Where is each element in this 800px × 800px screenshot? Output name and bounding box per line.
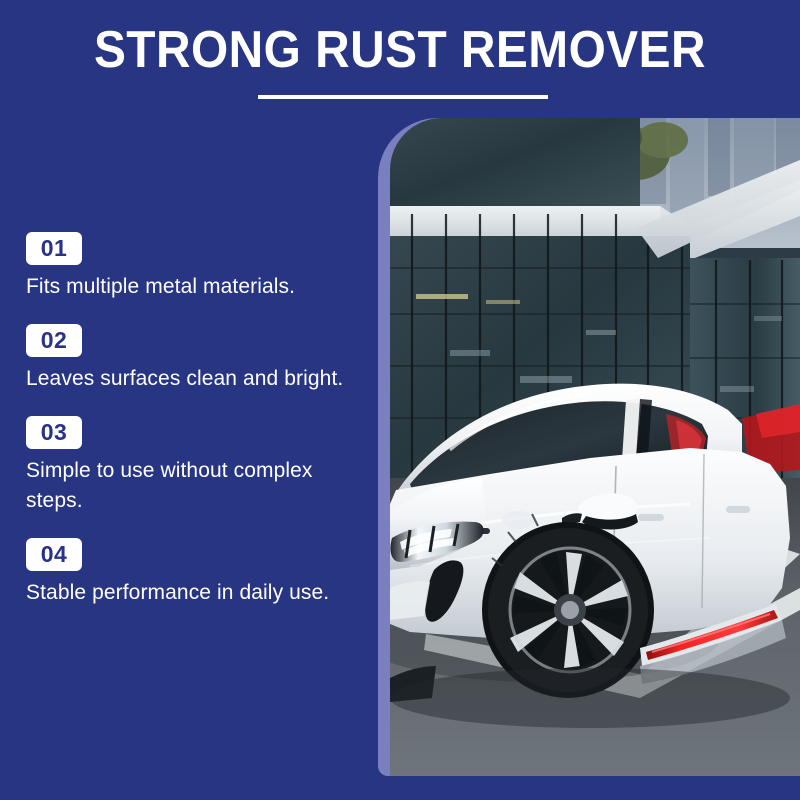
title-underline — [258, 95, 548, 99]
feature-description: Leaves surfaces clean and bright. — [26, 364, 371, 394]
page-title: STRONG RUST REMOVER — [32, 22, 768, 78]
feature-item-03: 03 Simple to use without complex steps. — [26, 416, 378, 516]
feature-description: Fits multiple metal materials. — [26, 272, 371, 302]
product-feature-poster: STRONG RUST REMOVER — [0, 0, 800, 800]
feature-number-badge: 03 — [26, 416, 82, 449]
feature-number-badge: 02 — [26, 324, 82, 357]
feature-description: Stable performance in daily use. — [26, 578, 371, 608]
feature-list: 01 Fits multiple metal materials. 02 Lea… — [26, 232, 378, 608]
feature-item-02: 02 Leaves surfaces clean and bright. — [26, 324, 378, 394]
bottom-strip — [0, 776, 800, 800]
feature-number-badge: 04 — [26, 538, 82, 571]
product-photo-panel — [378, 118, 800, 776]
feature-number-badge: 01 — [26, 232, 82, 265]
feature-item-04: 04 Stable performance in daily use. — [26, 538, 378, 608]
poster-header: STRONG RUST REMOVER — [0, 0, 800, 112]
feature-description: Simple to use without complex steps. — [26, 456, 371, 516]
car-photograph — [390, 118, 800, 776]
feature-item-01: 01 Fits multiple metal materials. — [26, 232, 378, 302]
photo-clip — [390, 118, 800, 776]
